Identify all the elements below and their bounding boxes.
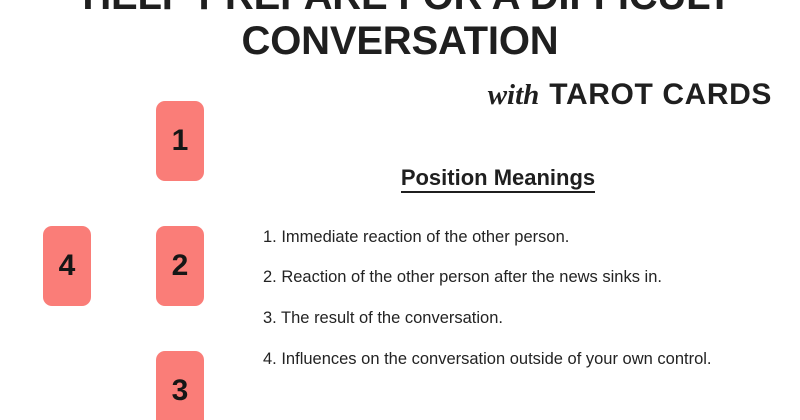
meaning-item: 1. Immediate reaction of the other perso… (263, 226, 733, 249)
meaning-item: 3. The result of the conversation. (263, 307, 733, 330)
tarot-card-number: 4 (59, 251, 76, 281)
tarot-card-position-3[interactable]: 3 (156, 351, 204, 420)
headline-line-2: CONVERSATION (0, 19, 800, 64)
tarot-card-number: 3 (172, 376, 189, 406)
tarot-card-position-2[interactable]: 2 (156, 226, 204, 306)
subtitle-with-word: with (488, 79, 540, 111)
subtitle: withTAROT CARDS (488, 78, 772, 112)
position-meanings-heading-text: Position Meanings (401, 165, 595, 193)
tarot-card-position-4[interactable]: 4 (43, 226, 91, 306)
tarot-card-number: 2 (172, 251, 189, 281)
headline-line-1: HELP PREPARE FOR A DIFFICULT (0, 0, 800, 19)
poster-canvas: HELP PREPARE FOR A DIFFICULT CONVERSATIO… (0, 0, 800, 420)
page-title: HELP PREPARE FOR A DIFFICULT CONVERSATIO… (0, 0, 800, 64)
meaning-item: 2. Reaction of the other person after th… (263, 266, 733, 289)
position-meanings-heading: Position Meanings (263, 165, 733, 191)
meaning-item: 4. Influences on the conversation outsid… (263, 348, 733, 371)
subtitle-tarot-word: TAROT CARDS (549, 78, 772, 111)
tarot-card-number: 1 (172, 126, 189, 156)
tarot-card-position-1[interactable]: 1 (156, 101, 204, 181)
